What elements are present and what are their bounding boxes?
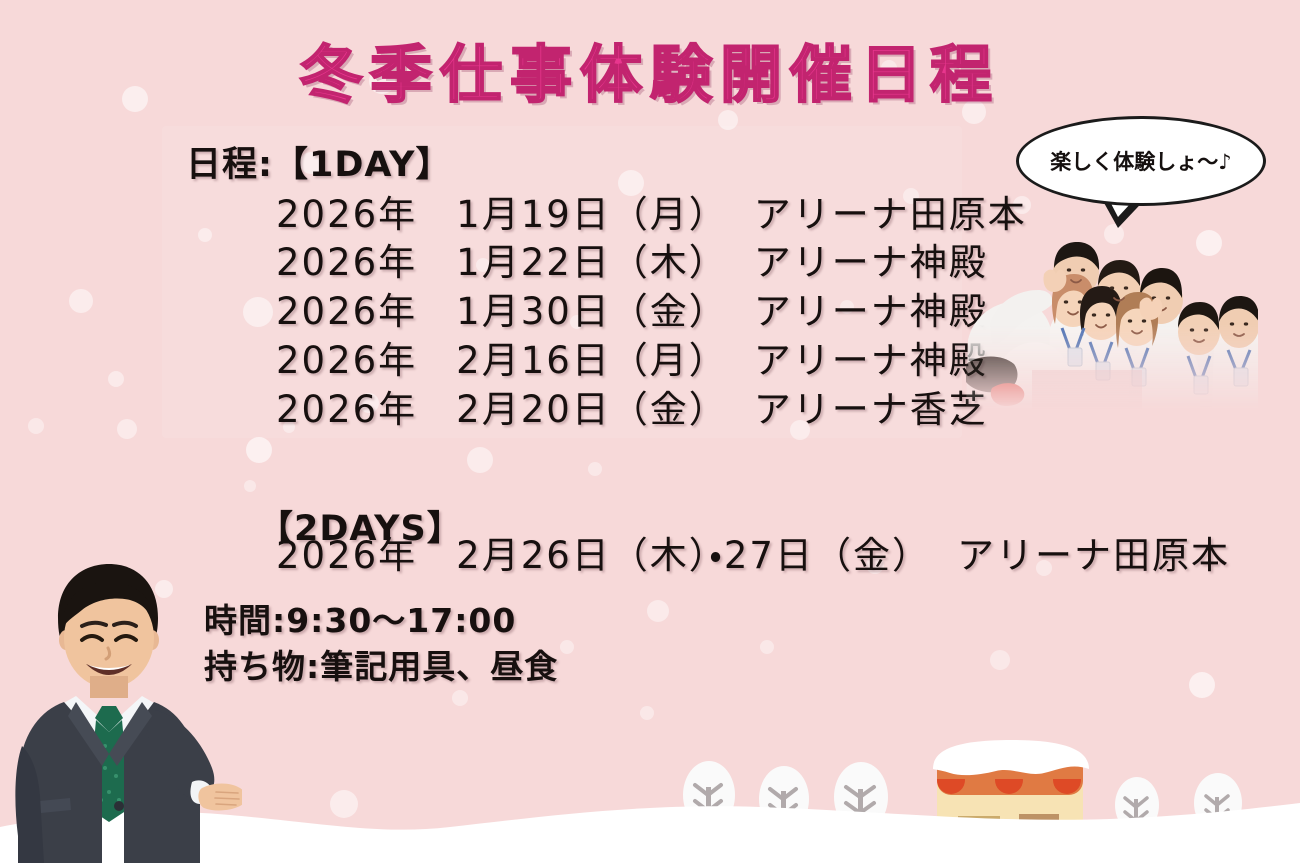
speech-bubble-text: 楽しく体験しょ〜♪ (1050, 146, 1231, 176)
page-title: 冬季仕事体験開催日程 (0, 24, 1300, 114)
schedule-venue: アリーナ田原本 (957, 525, 1230, 579)
schedule-venue: アリーナ神殿 (754, 232, 988, 286)
presenter-photo (6, 556, 242, 863)
schedule-row: 2026年 2月16日（月） アリーナ神殿 (276, 330, 988, 384)
schedule-venue: アリーナ神殿 (754, 281, 988, 335)
schedule-date: 2026年 1月30日（金） (276, 281, 728, 335)
schedule-row: 2026年 1月30日（金） アリーナ神殿 (276, 281, 988, 335)
schedule-date: 2026年 2月26日（木）・27日（金） (276, 525, 931, 579)
schedule-venue: アリーナ神殿 (754, 330, 988, 384)
schedule-row: 2026年 2月20日（金） アリーナ香芝 (276, 379, 988, 433)
schedule-row: 2026年 2月26日（木）・27日（金） アリーナ田原本 (276, 525, 1230, 579)
time-info: 時間:9:30〜17:00 (204, 594, 516, 642)
schedule-venue: アリーナ香芝 (754, 379, 988, 433)
speech-bubble: 楽しく体験しょ〜♪ (1016, 116, 1266, 206)
oneday-label: 日程:【1DAY】 (186, 136, 452, 187)
poster-canvas: 冬季仕事体験開催日程 日程:【1DAY】 2026年 1月19日（月） アリーナ… (0, 0, 1300, 863)
bring-info: 持ち物:筆記用具、昼食 (204, 640, 558, 688)
schedule-row: 2026年 1月19日（月） アリーナ田原本 (276, 184, 1027, 238)
schedule-date: 2026年 2月16日（月） (276, 330, 728, 384)
schedule-date: 2026年 1月22日（木） (276, 232, 728, 286)
schedule-row: 2026年 1月22日（木） アリーナ神殿 (276, 232, 988, 286)
students-group-photo (962, 220, 1258, 410)
schedule-date: 2026年 2月20日（金） (276, 379, 728, 433)
schedule-date: 2026年 1月19日（月） (276, 184, 728, 238)
